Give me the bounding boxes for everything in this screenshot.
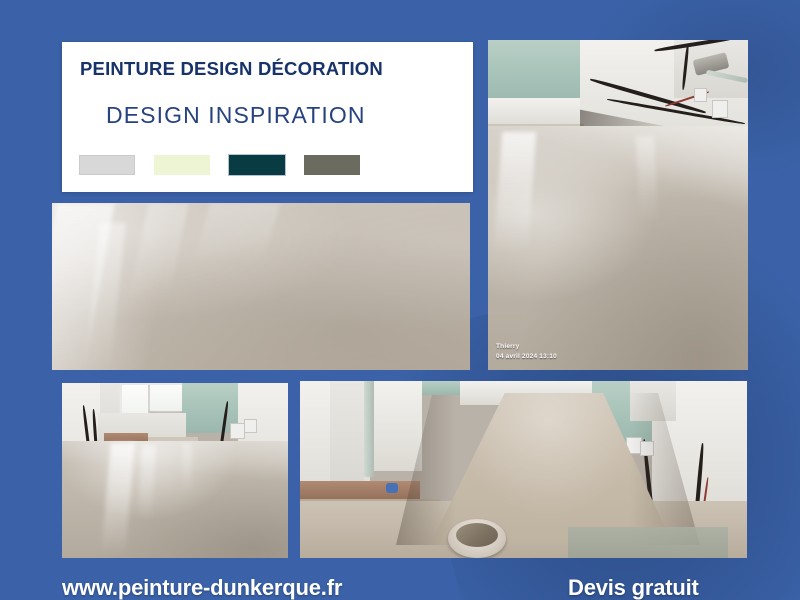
wall-door-panel xyxy=(374,381,422,471)
wall-socket-icon-2 xyxy=(244,419,257,433)
vertical-pipe xyxy=(364,381,374,477)
photo-glossy-resin-floor-closeup xyxy=(52,203,470,370)
watermark-author: Thierry xyxy=(496,342,557,352)
photo-room-teal-wall-right: Thierry 04 avril 2024 13:10 xyxy=(488,40,748,370)
floor-unfinished-patch xyxy=(568,527,728,558)
wall-socket-icon xyxy=(230,423,245,439)
wall-mint-green xyxy=(488,40,580,106)
color-swatch-row xyxy=(79,155,360,175)
wall-left-panel xyxy=(330,381,364,489)
footer-cta-label[interactable]: Devis gratuit xyxy=(568,575,699,600)
photo-corridor-glossy-floor xyxy=(62,383,288,558)
watermark-timestamp: 04 avril 2024 13:10 xyxy=(496,352,557,362)
wall-socket-icon-2 xyxy=(694,88,707,102)
wall-socket-icon xyxy=(712,100,728,118)
floor-perspective-shade xyxy=(62,441,288,558)
bucket-residue xyxy=(456,523,498,547)
floor-reflection-streak-3 xyxy=(182,443,192,495)
swatch-dark-teal xyxy=(229,155,285,175)
card-title: PEINTURE DESIGN DÉCORATION xyxy=(80,58,383,80)
poster-canvas: PEINTURE DESIGN DÉCORATION DESIGN INSPIR… xyxy=(0,0,800,600)
swatch-olive-grey xyxy=(304,155,360,175)
photo-watermark: Thierry 04 avril 2024 13:10 xyxy=(496,342,557,362)
header-card: PEINTURE DESIGN DÉCORATION DESIGN INSPIR… xyxy=(62,42,473,192)
pipe-valve-blue xyxy=(386,483,398,493)
swatch-light-grey xyxy=(79,155,135,175)
photo-large-room-poured-floor xyxy=(300,381,747,558)
footer-website-url[interactable]: www.peinture-dunkerque.fr xyxy=(62,575,342,600)
card-subtitle: DESIGN INSPIRATION xyxy=(106,102,366,129)
swatch-pale-lime xyxy=(154,155,210,175)
floor-mottling xyxy=(52,203,470,370)
